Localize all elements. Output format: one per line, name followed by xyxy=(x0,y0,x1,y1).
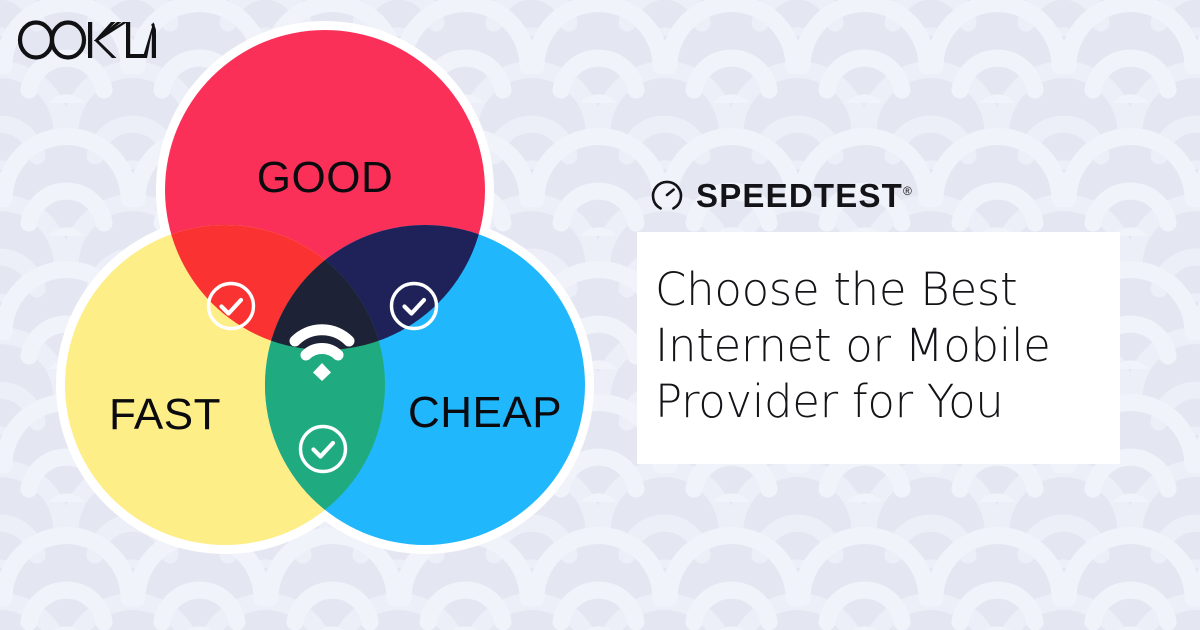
headline-line-2: Internet or Mobile xyxy=(655,319,1051,372)
headline-card: Choose the Best Internet or Mobile Provi… xyxy=(637,232,1120,464)
venn-label-good: GOOD xyxy=(257,153,393,202)
speedtest-wordmark-wrapper: SPEEDTEST® xyxy=(696,179,912,212)
speedtest-wordmark-text: SPEEDTEST xyxy=(696,177,903,214)
venn-diagram: GOOD FAST CHEAP xyxy=(48,14,648,584)
headline-line-1: Choose the Best xyxy=(655,263,1017,316)
page-title: Choose the Best Internet or Mobile Provi… xyxy=(655,262,1120,430)
ookla-logo: OOKLA xyxy=(16,19,156,61)
venn-label-fast: FAST xyxy=(109,390,221,439)
speedtest-social-card: OOKLA xyxy=(0,0,1200,630)
venn-label-cheap: CHEAP xyxy=(408,388,562,437)
registered-trademark-mark: ® xyxy=(903,184,912,198)
headline-line-3: Provider for You xyxy=(655,375,1004,428)
right-content-column: SPEEDTEST® Choose the Best Internet or M… xyxy=(637,172,1120,464)
speedometer-icon xyxy=(649,177,685,213)
speedtest-lockup: SPEEDTEST® xyxy=(637,172,1120,218)
